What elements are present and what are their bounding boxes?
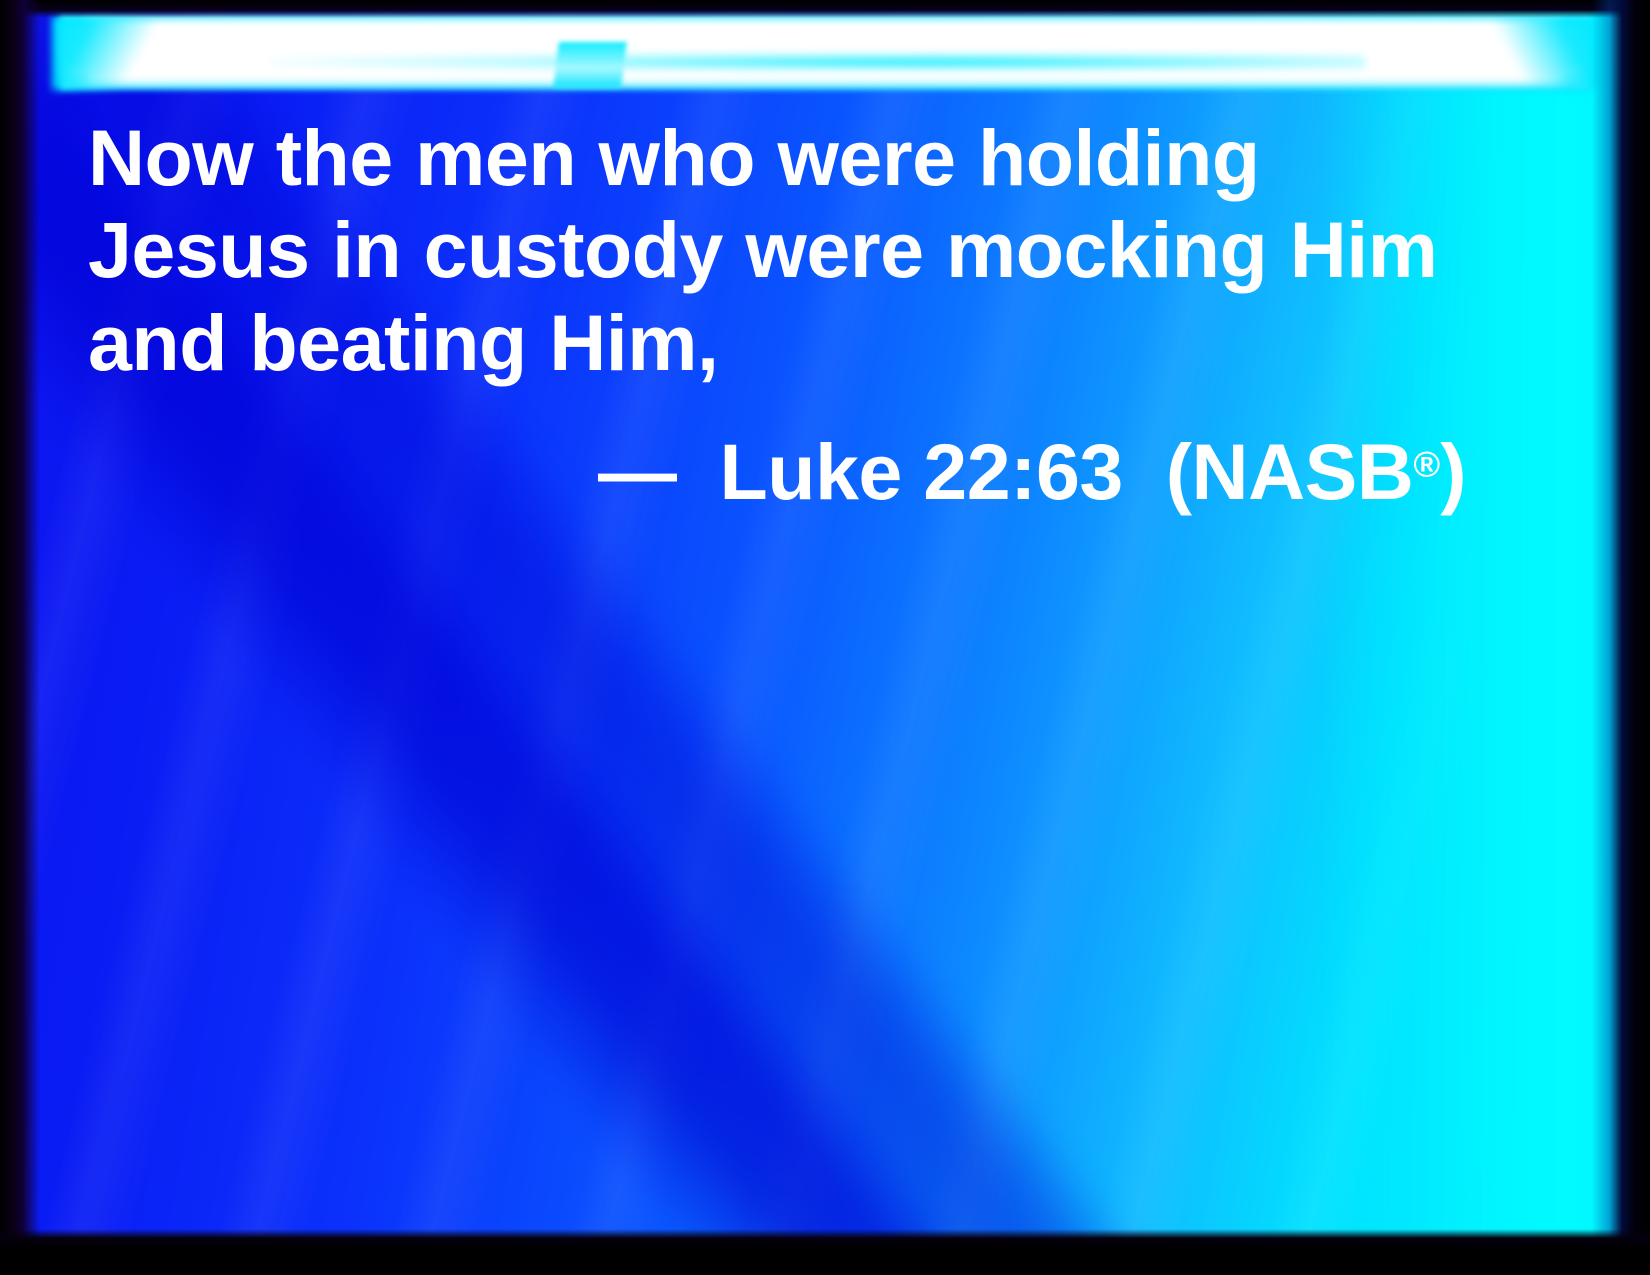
reference-translation-open: (NASB bbox=[1166, 427, 1414, 516]
top-glow-bar-cyan-lens bbox=[270, 52, 1365, 72]
top-glow-bar-right-shoulder bbox=[1398, 16, 1598, 90]
verse-slide: Now the men who were holding Jesus in cu… bbox=[0, 0, 1650, 1275]
registered-trademark-icon: ® bbox=[1413, 444, 1440, 485]
top-glow-bar-notch bbox=[553, 42, 627, 88]
verse-reference: — Luke 22:63 (NASB®) bbox=[88, 431, 1468, 514]
verse-block: Now the men who were holding Jesus in cu… bbox=[88, 112, 1468, 514]
top-glow-bar-left-shoulder bbox=[52, 16, 252, 90]
top-glow-bar-core bbox=[86, 20, 1562, 82]
reference-em-dash: — bbox=[598, 427, 677, 516]
verse-text: Now the men who were holding Jesus in cu… bbox=[88, 112, 1468, 389]
reference-citation: Luke 22:63 bbox=[719, 427, 1122, 516]
reference-translation-close: ) bbox=[1440, 427, 1466, 516]
